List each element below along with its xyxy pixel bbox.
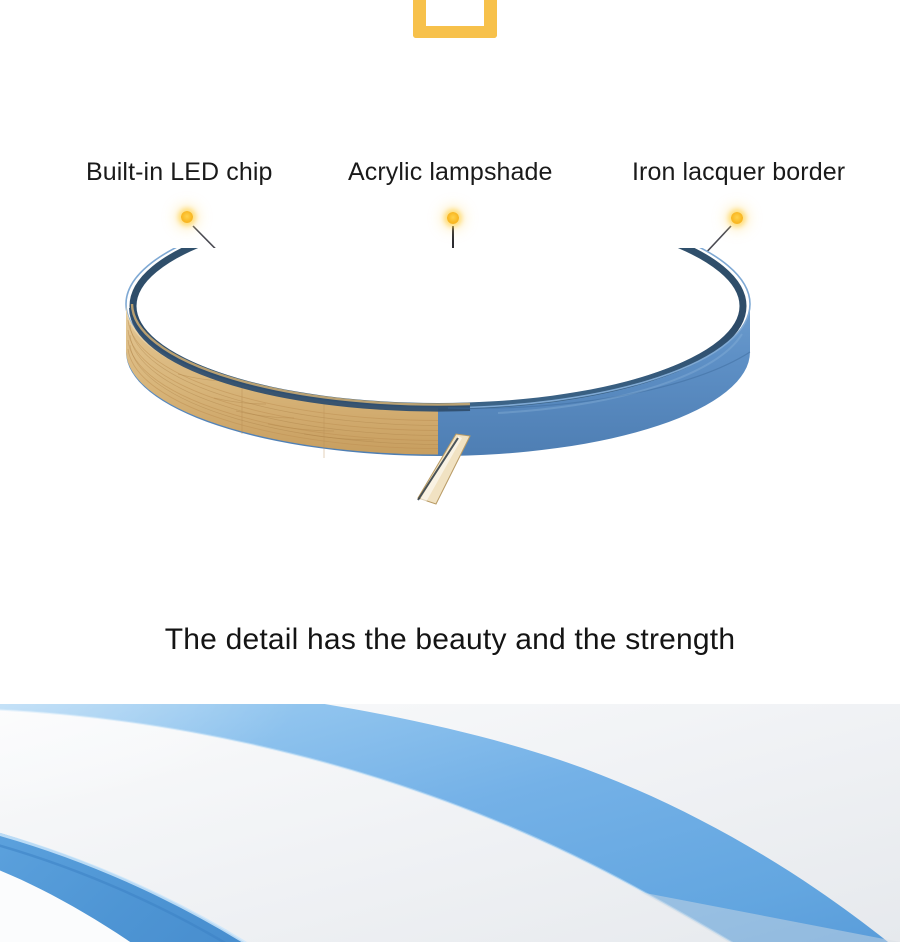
callout-label-led: Built-in LED chip <box>86 157 273 187</box>
u-bracket-icon <box>413 0 497 38</box>
callout-label-shade: Acrylic lampshade <box>348 157 553 187</box>
product-detail-page: Built-in LED chip Acrylic lampshade Iron… <box>0 0 900 942</box>
page-caption: The detail has the beauty and the streng… <box>0 620 900 660</box>
lamp-edge-closeup-photo <box>0 704 900 942</box>
lamp-illustration <box>118 248 758 593</box>
callout-dot-shade <box>447 212 459 224</box>
callout-dot-border <box>731 212 743 224</box>
callout-label-border: Iron lacquer border <box>632 157 845 187</box>
callout-dot-led <box>181 211 193 223</box>
